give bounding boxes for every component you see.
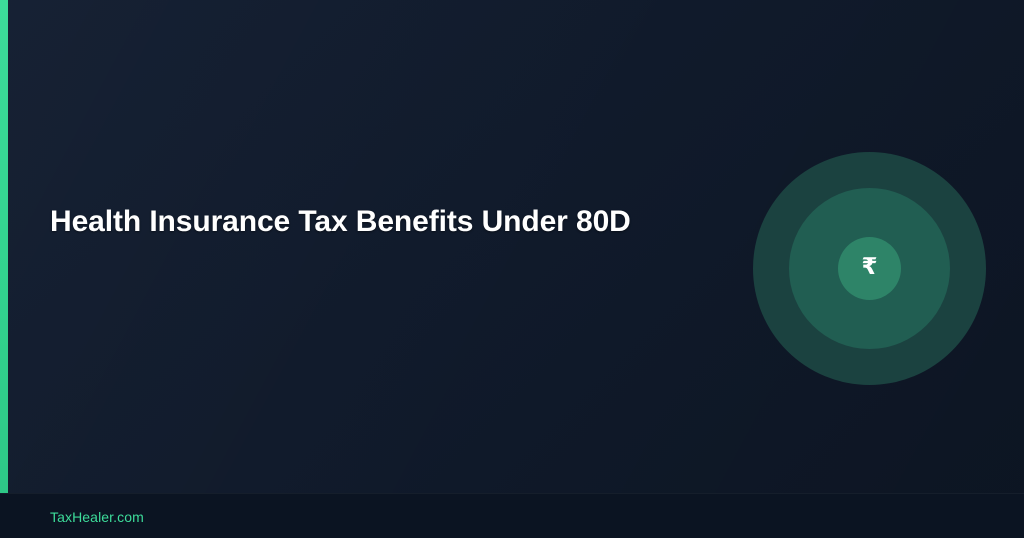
footer-band (0, 493, 1024, 538)
left-accent-bar-primary (0, 0, 8, 493)
page-title: Health Insurance Tax Benefits Under 80D (50, 205, 690, 239)
footer-brand-label: TaxHealer.com (50, 509, 144, 525)
emblem-ring-inner: ₹ (838, 237, 901, 300)
rupee-emblem-graphic: ₹ (753, 152, 986, 385)
slide-canvas: Health Insurance Tax Benefits Under 80D … (0, 0, 1024, 538)
rupee-icon: ₹ (861, 256, 877, 279)
